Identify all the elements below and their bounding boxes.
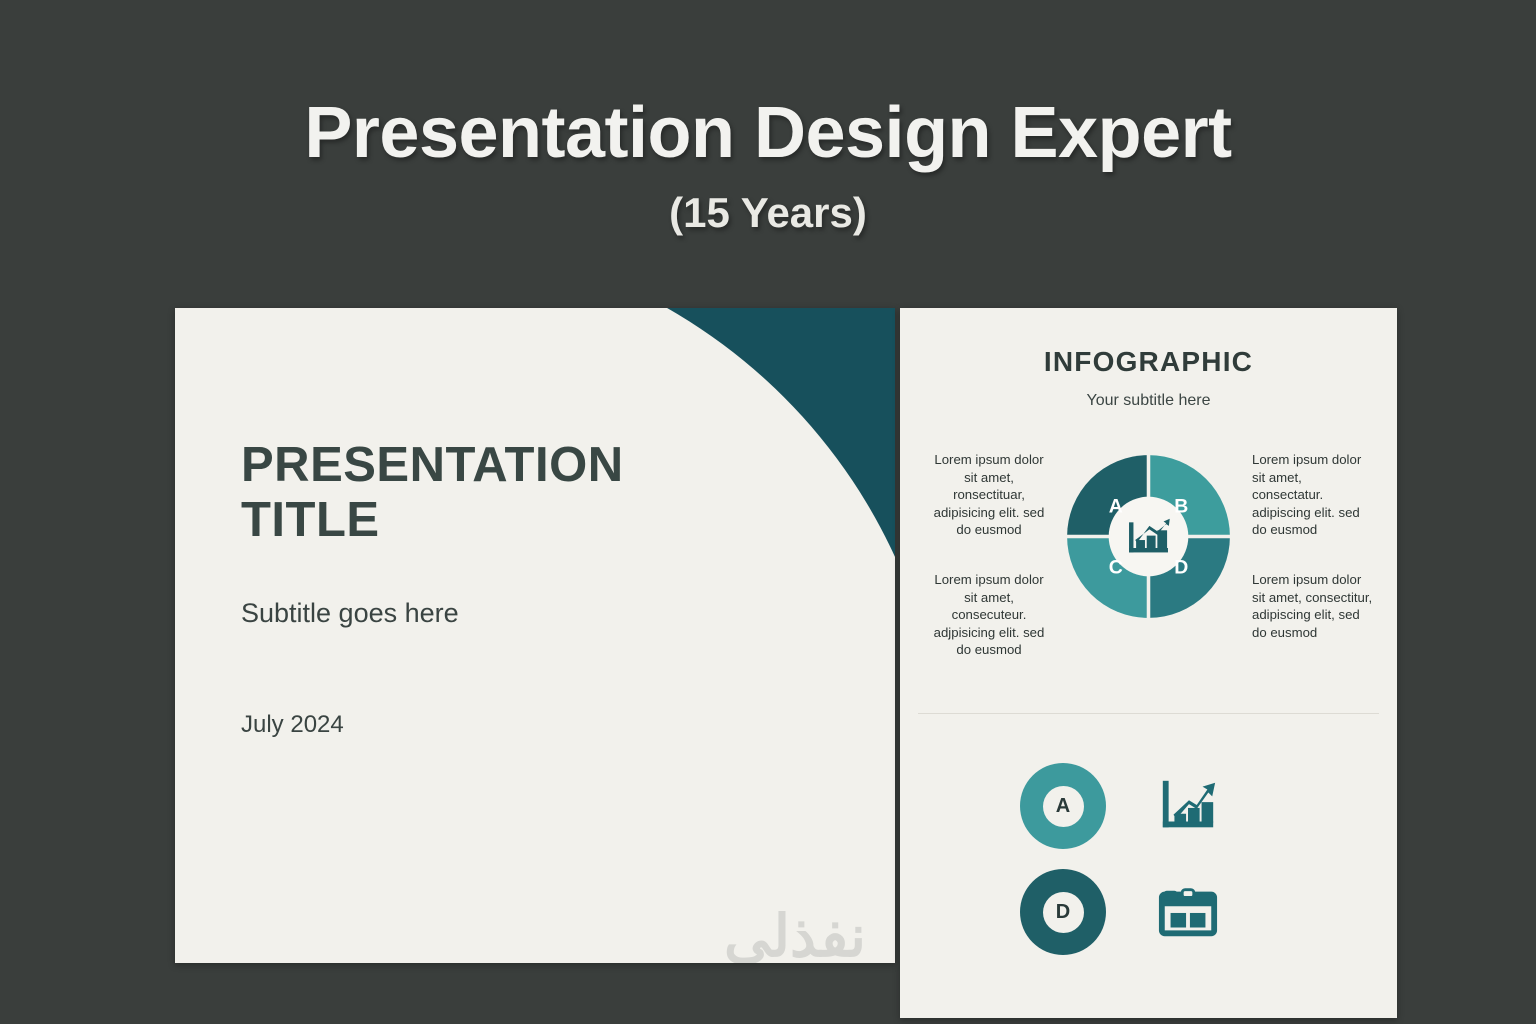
donut-label-b: B xyxy=(1174,495,1188,517)
donut-chart-svg: A B C D xyxy=(1060,448,1237,625)
page-subtitle: (15 Years) xyxy=(0,192,1536,234)
slide-date: July 2024 xyxy=(241,713,711,737)
title-slide-content: PRESENTATION TITLE Subtitle goes here Ju… xyxy=(241,438,711,737)
ring-badge-d: D xyxy=(1020,869,1106,955)
infographic-slide-preview[interactable]: INFOGRAPHIC Your subtitle here A B xyxy=(900,308,1397,1018)
list-item[interactable]: A xyxy=(1020,763,1280,849)
slide-subtitle: Subtitle goes here xyxy=(241,600,711,627)
lorem-block-bottom-right: Lorem ipsum dolor sit amet, consectitur,… xyxy=(1252,571,1374,641)
page-title: Presentation Design Expert xyxy=(0,97,1536,169)
lorem-block-bottom-left: Lorem ipsum dolor sit amet, consecuteur.… xyxy=(928,571,1050,659)
lorem-block-top-right: Lorem ipsum dolor sit amet, consectatur.… xyxy=(1252,451,1374,539)
page-header: Presentation Design Expert (15 Years) xyxy=(0,0,1536,300)
donut-label-d: D xyxy=(1174,557,1188,579)
ring-badge-a-label: A xyxy=(1043,786,1084,827)
growth-chart-icon xyxy=(1157,775,1219,837)
donut-label-a: A xyxy=(1109,495,1123,517)
lorem-block-top-left: Lorem ipsum dolor sit amet, ronsectituar… xyxy=(928,451,1050,539)
infographic-title: INFOGRAPHIC xyxy=(900,348,1397,376)
ring-badge-d-label: D xyxy=(1043,892,1084,933)
donut-chart: A B C D xyxy=(1060,448,1237,625)
infographic-subtitle: Your subtitle here xyxy=(900,393,1397,409)
donut-label-c: C xyxy=(1109,557,1123,579)
browser-window-icon xyxy=(1157,881,1219,943)
title-slide-preview[interactable]: PRESENTATION TITLE Subtitle goes here Ju… xyxy=(175,308,895,963)
list-item[interactable]: D xyxy=(1020,869,1280,955)
slide-title: PRESENTATION TITLE xyxy=(241,438,711,548)
section-divider xyxy=(918,713,1379,714)
slides-board: PRESENTATION TITLE Subtitle goes here Ju… xyxy=(175,308,1397,1018)
ring-badge-a: A xyxy=(1020,763,1106,849)
